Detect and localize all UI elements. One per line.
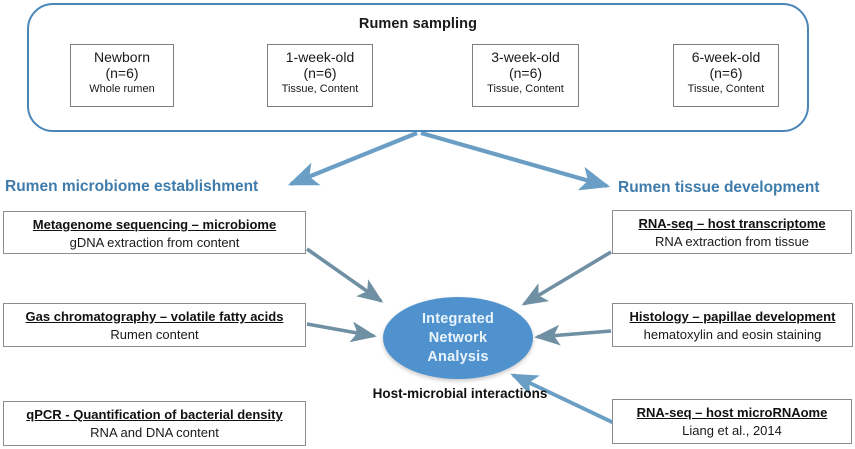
method-subtitle: Rumen content <box>4 326 305 344</box>
sample-age-label: 6-week-old <box>674 49 778 65</box>
arrow-metagenome-to-center <box>307 249 381 301</box>
integrated-network-analysis-node: Integrated Network Analysis <box>383 297 533 379</box>
method-subtitle: hematoxylin and eosin staining <box>613 326 852 344</box>
sample-material-label: Tissue, Content <box>268 82 372 96</box>
sample-count-label: (n=6) <box>473 65 578 82</box>
arrow-sampling-to-right-branch <box>421 133 607 186</box>
center-line-3: Analysis <box>427 348 488 367</box>
sample-group-box: 1-week-old (n=6) Tissue, Content <box>267 44 373 107</box>
method-subtitle: Liang et al., 2014 <box>613 422 851 440</box>
sample-group-box: Newborn (n=6) Whole rumen <box>70 44 174 107</box>
center-line-2: Network <box>429 329 488 348</box>
sample-group-box: 3-week-old (n=6) Tissue, Content <box>472 44 579 107</box>
figure-canvas: Rumen sampling Newborn (n=6) Whole rumen… <box>0 0 855 449</box>
method-subtitle: RNA extraction from tissue <box>613 233 851 251</box>
sample-age-label: Newborn <box>71 49 173 65</box>
branch-heading-tissue: Rumen tissue development <box>618 179 820 197</box>
sample-material-label: Whole rumen <box>71 82 173 96</box>
arrow-gas-chromatography-to-center <box>307 324 374 336</box>
method-subtitle: gDNA extraction from content <box>4 234 305 252</box>
method-box-histology: Histology – papillae development hematox… <box>612 303 853 347</box>
branch-heading-microbiome: Rumen microbiome establishment <box>5 178 258 196</box>
method-box-rnaseq-transcriptome: RNA-seq – host transcriptome RNA extract… <box>612 210 852 254</box>
center-caption: Host-microbial interactions <box>345 386 575 401</box>
method-title: RNA-seq – host transcriptome <box>613 214 851 233</box>
method-title: Metagenome sequencing – microbiome <box>4 215 305 234</box>
method-box-qpcr: qPCR - Quantification of bacterial densi… <box>3 401 306 446</box>
sampling-title: Rumen sampling <box>29 16 807 32</box>
sample-age-label: 3-week-old <box>473 49 578 65</box>
method-title: qPCR - Quantification of bacterial densi… <box>4 405 305 424</box>
sample-group-box: 6-week-old (n=6) Tissue, Content <box>673 44 779 107</box>
method-box-gas-chromatography: Gas chromatography – volatile fatty acid… <box>3 303 306 347</box>
sample-material-label: Tissue, Content <box>473 82 578 96</box>
arrow-sampling-to-left-branch <box>291 133 417 184</box>
arrow-histology-to-center <box>537 331 611 337</box>
method-subtitle: RNA and DNA content <box>4 424 305 442</box>
method-title: Histology – papillae development <box>613 307 852 326</box>
sample-age-label: 1-week-old <box>268 49 372 65</box>
sample-count-label: (n=6) <box>268 65 372 82</box>
arrow-rnaseq-to-center <box>524 252 611 304</box>
sample-material-label: Tissue, Content <box>674 82 778 96</box>
center-line-1: Integrated <box>422 310 494 329</box>
method-title: Gas chromatography – volatile fatty acid… <box>4 307 305 326</box>
method-box-metagenome-sequencing: Metagenome sequencing – microbiome gDNA … <box>3 211 306 254</box>
method-box-rnaseq-micrornaome: RNA-seq – host microRNAome Liang et al.,… <box>612 399 852 444</box>
sample-count-label: (n=6) <box>71 65 173 82</box>
method-title: RNA-seq – host microRNAome <box>613 403 851 422</box>
sample-count-label: (n=6) <box>674 65 778 82</box>
